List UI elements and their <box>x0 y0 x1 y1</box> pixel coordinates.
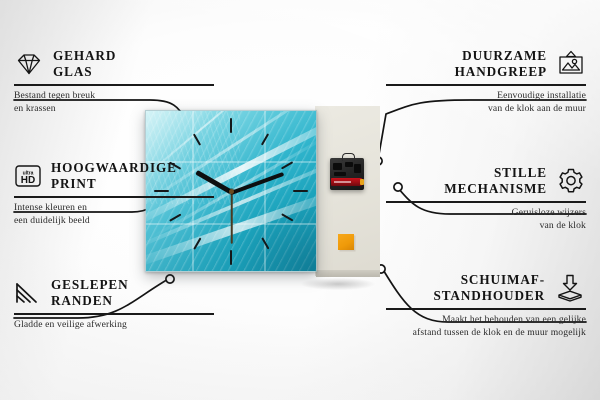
movement-slot-a <box>333 163 342 170</box>
feature-gehard-glas: GEHARD GLAS Bestand tegen breuk en krass… <box>14 48 214 116</box>
feature-schuimaf-standhouder: SCHUIMAF- STANDHOUDER Maakt het behouden… <box>386 272 586 340</box>
clock-center-pin <box>229 189 234 194</box>
battery-positive-terminal <box>360 179 364 185</box>
movement-hanger-hook <box>342 153 355 161</box>
ultra-hd-icon: ultra HD <box>14 163 42 189</box>
feature-title: DUURZAME HANDGREEP <box>455 48 547 79</box>
feature-geslepen-randen: GESLEPEN RANDEN Gladde en veilige afwerk… <box>14 277 214 332</box>
feature-header: DUURZAME HANDGREEP <box>386 48 586 79</box>
product-shadow <box>290 276 386 292</box>
gear-icon <box>556 167 586 195</box>
feature-divider <box>386 201 586 203</box>
feature-divider <box>14 313 214 315</box>
diagonal-lines-icon <box>14 281 42 305</box>
feature-stille-mechanisme: STILLE MECHANISME Geruisloze wijzers van… <box>386 165 586 233</box>
movement-slot-b <box>345 162 353 167</box>
battery-label-stripe <box>334 181 351 184</box>
feature-title: HOOGWAARDIGE PRINT <box>51 160 177 191</box>
feature-title: SCHUIMAF- STANDHOUDER <box>433 272 545 303</box>
clock-back-panel <box>315 106 380 276</box>
clock-battery <box>331 178 362 186</box>
foam-spacer-pad <box>338 234 354 250</box>
feature-header: STILLE MECHANISME <box>386 165 586 196</box>
infographic-canvas: GEHARD GLAS Bestand tegen breuk en krass… <box>0 0 600 400</box>
clock-second-hand <box>231 192 233 244</box>
hanging-picture-icon <box>556 50 586 78</box>
feature-title: GESLEPEN RANDEN <box>51 277 129 308</box>
feature-subtitle: Maakt het behouden van een gelijke afsta… <box>386 314 586 340</box>
movement-slot-c <box>354 164 361 173</box>
feature-subtitle: Eenvoudige installatie van de klok aan d… <box>386 90 586 116</box>
feature-divider <box>14 196 214 198</box>
movement-slot-d <box>334 172 346 176</box>
feature-header: SCHUIMAF- STANDHOUDER <box>386 272 586 303</box>
diamond-icon <box>14 52 44 76</box>
feature-subtitle: Intense kleuren en een duidelijk beeld <box>14 202 214 228</box>
feature-divider <box>386 84 586 86</box>
feature-hoogwaardige-print: ultra HD HOOGWAARDIGE PRINT Intense kleu… <box>14 160 214 228</box>
feature-header: GESLEPEN RANDEN <box>14 277 214 308</box>
feature-subtitle: Gladde en veilige afwerking <box>14 319 214 332</box>
feature-divider <box>386 308 586 310</box>
feature-subtitle: Geruisloze wijzers van de klok <box>386 207 586 233</box>
ultra-hd-icon-main-text: HD <box>21 175 35 186</box>
arrow-down-pad-icon <box>554 274 586 302</box>
feature-header: GEHARD GLAS <box>14 48 214 79</box>
feature-title: STILLE MECHANISME <box>444 165 547 196</box>
feature-title: GEHARD GLAS <box>53 48 116 79</box>
feature-header: ultra HD HOOGWAARDIGE PRINT <box>14 160 214 191</box>
feature-duurzame-handgreep: DUURZAME HANDGREEP Eenvoudige installati… <box>386 48 586 116</box>
feature-divider <box>14 84 214 86</box>
clock-movement <box>330 158 364 190</box>
feature-subtitle: Bestand tegen breuk en krassen <box>14 90 214 116</box>
